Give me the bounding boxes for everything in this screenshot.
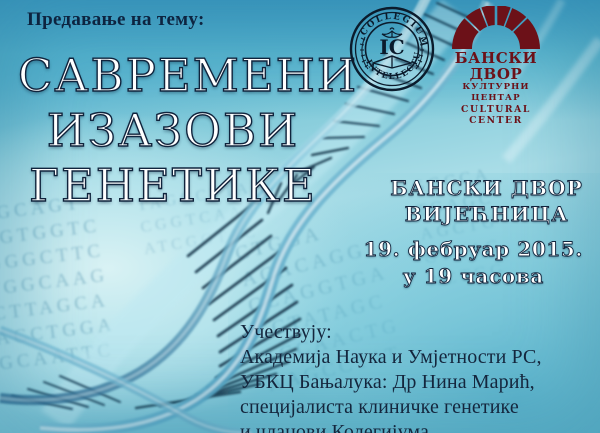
poster-canvas: GTGCAGT TGGTGGTC AGGGCTTC TTGGCAAG GCTTA…: [0, 0, 600, 433]
title-line-1: САВРЕМЕНИ: [18, 48, 328, 103]
banski-dvor-line-1: БАНСКИ ДВОР: [447, 50, 545, 82]
banski-dvor-arch-icon: [447, 6, 545, 50]
title-line-2: ИЗАЗОВИ: [18, 103, 328, 158]
event-date: 19. фебруар 2015.: [364, 236, 583, 263]
kicker-text: Предавање на тему:: [27, 9, 205, 31]
collegium-intellectum-seal-icon: COLLEGIUM INTELLECTUM IC: [349, 6, 435, 92]
venue-line-1: БАНСКИ ДВОР: [390, 175, 583, 201]
participants-line-4: и чланови Колегијума: [240, 420, 600, 433]
venue-block: БАНСКИ ДВОР ВИЈЕЋНИЦА: [390, 175, 583, 227]
venue-line-2: ВИЈЕЋНИЦА: [390, 201, 583, 227]
participants-line-3: специјалиста клиничке генетике: [240, 395, 600, 420]
banski-dvor-logo: БАНСКИ ДВОР КУЛТУРНИ ЦЕНТАР CULTURAL CEN…: [447, 6, 545, 90]
datetime-block: 19. фебруар 2015. у 19 часова: [364, 236, 583, 290]
collegium-monogram-text: IC: [379, 35, 404, 59]
banski-dvor-line-2: КУЛТУРНИ ЦЕНТАР: [447, 82, 545, 104]
title-line-3: ГЕНЕТИКЕ: [18, 158, 328, 213]
participants-line-2: УБКЦ Бањалука: Др Нина Марић,: [240, 370, 600, 395]
page-title: САВРЕМЕНИ ИЗАЗОВИ ГЕНЕТИКЕ: [18, 48, 328, 213]
banski-dvor-wordmark: БАНСКИ ДВОР КУЛТУРНИ ЦЕНТАР CULTURAL CEN…: [447, 50, 545, 126]
participants-block: Учествују: Академија Наука и Умјетности …: [240, 320, 600, 433]
participants-heading: Учествују:: [240, 320, 600, 345]
banski-dvor-line-3: CULTURAL CENTER: [447, 104, 545, 126]
event-time: у 19 часова: [364, 263, 583, 290]
participants-line-1: Академија Наука и Умјетности РС,: [240, 345, 600, 370]
